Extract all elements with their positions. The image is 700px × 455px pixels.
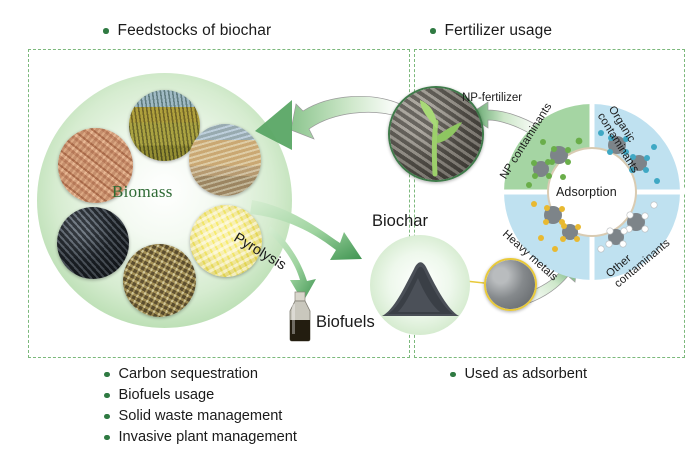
arrowhead-to-biomass xyxy=(255,100,292,150)
list-item: Used as adsorbent xyxy=(450,364,587,385)
footer-list-left: Carbon sequestration Biofuels usage Soli… xyxy=(104,364,297,448)
list-item: Carbon sequestration xyxy=(104,364,297,385)
bullet-icon xyxy=(104,372,110,378)
footer-list-right: Used as adsorbent xyxy=(450,364,587,385)
bullet-icon xyxy=(104,393,110,399)
biofuels-label: Biofuels xyxy=(316,313,375,332)
biochar-label: Biochar xyxy=(372,212,428,231)
list-item-label: Carbon sequestration xyxy=(119,364,259,385)
list-item: Solid waste management xyxy=(104,406,297,427)
donut-center-label: Adsorption xyxy=(556,185,617,199)
bullet-icon xyxy=(450,372,456,378)
arrow-recycle-to-biomass xyxy=(291,96,400,139)
list-item-label: Biofuels usage xyxy=(119,385,215,406)
biochar-powder-pile xyxy=(378,250,463,322)
bullet-icon xyxy=(104,435,110,441)
list-item: Biofuels usage xyxy=(104,385,297,406)
list-item: Invasive plant management xyxy=(104,427,297,448)
biofuel-bottle-icon xyxy=(283,291,317,342)
list-item-label: Used as adsorbent xyxy=(465,364,588,385)
list-item-label: Solid waste management xyxy=(119,406,283,427)
bullet-icon xyxy=(104,414,110,420)
list-item-label: Invasive plant management xyxy=(119,427,297,448)
